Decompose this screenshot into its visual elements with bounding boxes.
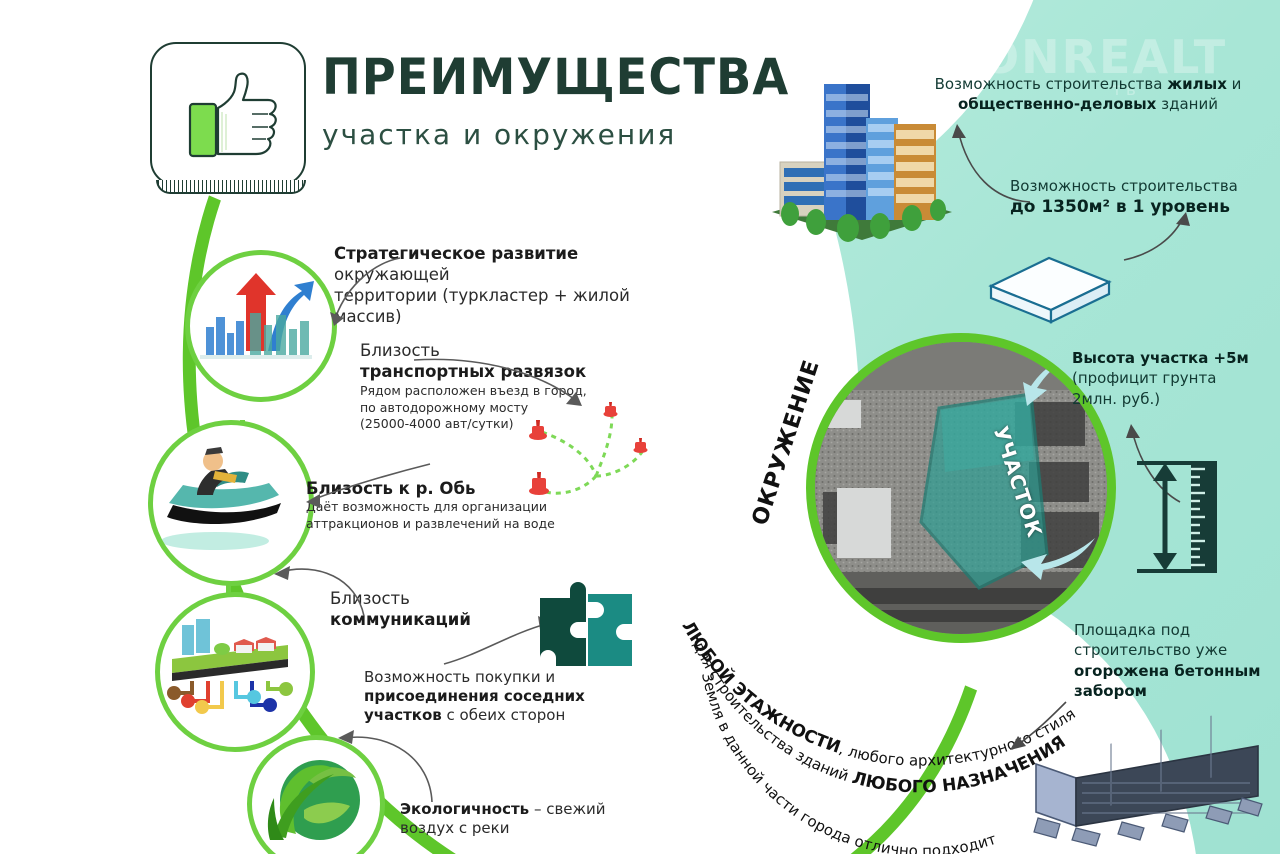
river-detail-1: Даёт возможность для организации — [306, 499, 596, 516]
text-river-proximity: Близость к р. Обь Даёт возможность для о… — [306, 478, 596, 533]
river-title: Близость к р. Обь — [306, 479, 475, 498]
transport-line2: транспортных развязок — [360, 362, 586, 381]
infographic-canvas: ONREALT ть ПРЕИМУЩЕСТВА участка и окруже… — [0, 0, 1280, 854]
strategic-bold: Стратегическое развитие — [334, 244, 578, 263]
transport-detail-3: (25000-4000 авт/сутки) — [360, 416, 610, 433]
height-line2: (профицит грунта — [1072, 369, 1216, 387]
build-2b: общественно-деловых — [958, 95, 1156, 113]
neighbor-line2: присоединения соседних — [364, 687, 585, 705]
concrete-slab-icon — [985, 252, 1115, 322]
text-building-types: Возможность строительства жилых и общест… — [912, 74, 1264, 115]
area-line2: до 1350м² в 1 уровень — [1010, 197, 1230, 217]
fence-line3: огорожена бетонным — [1074, 662, 1261, 680]
page-title: ПРЕИМУЩЕСТВА — [322, 52, 789, 102]
thumbs-up-card — [150, 42, 306, 186]
fence-line4: забором — [1074, 682, 1147, 700]
growth-chart-city-icon — [190, 255, 322, 387]
puzzle-pieces-icon — [536, 578, 636, 678]
transport-line1: Близость — [360, 341, 440, 360]
height-line3: 2млн. руб.) — [1072, 390, 1160, 408]
height-ruler-icon — [1135, 455, 1227, 580]
fence-line1: Площадка под — [1074, 621, 1190, 639]
text-ecology: Экологичность – свежий воздух с реки — [400, 800, 630, 838]
icon-circle-river — [148, 420, 314, 586]
comm-line2: коммуникаций — [330, 610, 471, 629]
aerial-photo-plot — [806, 333, 1116, 643]
strategic-line2: территории (туркластер + жилой массив) — [334, 286, 630, 326]
icon-circle-communications — [155, 592, 315, 752]
fence-line2: строительство уже — [1074, 641, 1227, 659]
utilities-icon — [160, 597, 300, 737]
strategic-rest: окружающей — [334, 265, 450, 284]
height-line1: Высота участка +5м — [1072, 349, 1249, 367]
transport-detail-1: Рядом расположен въезд в город, — [360, 383, 610, 400]
text-strategic-development: Стратегическое развитие окружающей терри… — [334, 243, 664, 327]
concrete-fence-icon — [1020, 738, 1270, 846]
eco-line2: воздух с реки — [400, 819, 509, 837]
eco-rest: – свежий — [529, 800, 605, 818]
text-communications: Близость коммуникаций — [330, 588, 550, 631]
build-2c: зданий — [1156, 95, 1218, 113]
eco-bold: Экологичность — [400, 800, 529, 818]
area-line1: Возможность строительства — [1010, 177, 1238, 195]
river-detail-2: аттракционов и развлечений на воде — [306, 516, 596, 533]
transport-detail-2: по автодорожному мосту — [360, 400, 610, 417]
neighbor-line3-rest: с обеих сторон — [442, 706, 566, 724]
icon-circle-strategic — [185, 250, 337, 402]
build-1a: Возможность строительства — [935, 75, 1168, 93]
jet-ski-icon — [153, 425, 299, 571]
neighbor-line3-bold: участков — [364, 706, 442, 724]
comm-line1: Близость — [330, 589, 410, 608]
neighbor-line1: Возможность покупки и — [364, 668, 555, 686]
build-1b: жилых — [1167, 75, 1227, 93]
text-concrete-fence: Площадка под строительство уже огорожена… — [1074, 620, 1280, 702]
text-transport-hubs: Близость транспортных развязок Рядом рас… — [360, 340, 610, 433]
thumbs-up-icon — [182, 58, 292, 168]
build-1c: и — [1227, 75, 1242, 93]
eco-globe-icon — [252, 740, 370, 854]
page-subtitle: участка и окружения — [322, 118, 676, 151]
text-plot-height: Высота участка +5м (профицит грунта 2млн… — [1072, 348, 1272, 409]
text-buildable-area: Возможность строительства до 1350м² в 1 … — [1010, 176, 1260, 220]
